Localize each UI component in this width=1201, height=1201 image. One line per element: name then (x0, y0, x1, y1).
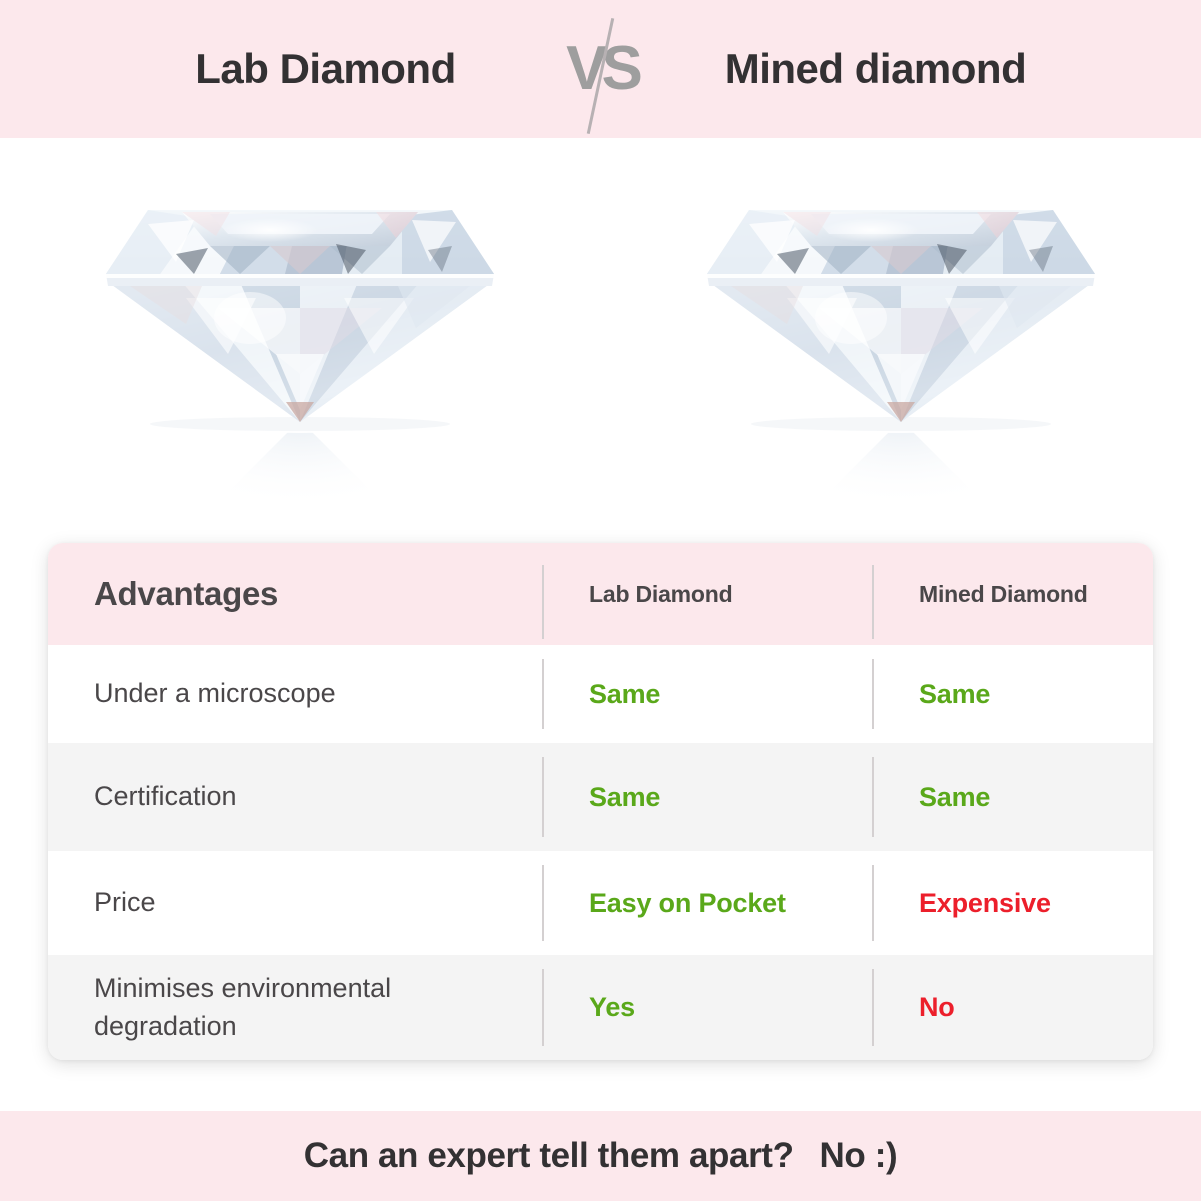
column-divider-1 (542, 757, 544, 837)
header-inner: Lab Diamond VS Mined diamond (0, 9, 1201, 129)
row-mined-cell: Expensive (873, 851, 1153, 955)
column-divider-1 (542, 659, 544, 729)
table-header-row: Advantages Lab Diamond Mined Diamond (48, 543, 1153, 645)
row-mined-cell: No (873, 955, 1153, 1060)
table-row: Certification Same Same (48, 743, 1153, 851)
column-divider-1 (542, 865, 544, 941)
column-divider-1 (542, 565, 544, 639)
column-divider-2 (872, 969, 874, 1046)
column-divider-1 (542, 969, 544, 1046)
vs-badge: VS (541, 9, 661, 129)
row-feature-label: Price (94, 884, 156, 921)
header-left-title: Lab Diamond (111, 48, 541, 90)
table-row: Price Easy on Pocket Expensive (48, 851, 1153, 955)
row-feature-label: Certification (94, 778, 237, 815)
column-header-mined-label: Mined Diamond (919, 581, 1088, 608)
header-right-title: Mined diamond (661, 48, 1091, 90)
table-row: Under a microscope Same Same (48, 645, 1153, 743)
diamond-icon (691, 158, 1111, 518)
column-divider-2 (872, 757, 874, 837)
footer-answer: No :) (820, 1136, 898, 1176)
row-mined-value: Same (919, 782, 990, 813)
diamond-icon (90, 158, 510, 518)
column-divider-2 (872, 865, 874, 941)
row-lab-value: Yes (589, 992, 635, 1023)
column-divider-2 (872, 659, 874, 729)
row-feature-cell: Price (48, 851, 543, 955)
comparison-table: Advantages Lab Diamond Mined Diamond Und… (48, 543, 1153, 1060)
row-mined-value: Expensive (919, 888, 1051, 919)
column-header-lab: Lab Diamond (543, 543, 873, 645)
row-lab-cell: Same (543, 743, 873, 851)
row-lab-value: Same (589, 679, 660, 710)
lab-diamond-image (90, 158, 510, 518)
row-feature-cell: Certification (48, 743, 543, 851)
row-mined-value: No (919, 992, 955, 1023)
row-lab-cell: Same (543, 645, 873, 743)
footer-question: Can an expert tell them apart? (304, 1136, 794, 1176)
row-feature-cell: Under a microscope (48, 645, 543, 743)
row-feature-cell: Minimises environmental degradation (48, 955, 543, 1060)
row-mined-cell: Same (873, 645, 1153, 743)
row-feature-label: Under a microscope (94, 675, 336, 712)
row-lab-cell: Easy on Pocket (543, 851, 873, 955)
row-lab-value: Same (589, 782, 660, 813)
row-mined-value: Same (919, 679, 990, 710)
row-lab-value: Easy on Pocket (589, 888, 786, 919)
comparison-card: Advantages Lab Diamond Mined Diamond Und… (48, 543, 1153, 1060)
column-header-advantages: Advantages (48, 543, 543, 645)
footer-band: Can an expert tell them apart? No :) (0, 1111, 1201, 1201)
row-lab-cell: Yes (543, 955, 873, 1060)
column-header-lab-label: Lab Diamond (589, 581, 732, 608)
diamond-showcase (0, 138, 1201, 538)
column-header-advantages-label: Advantages (94, 575, 278, 613)
header-band: Lab Diamond VS Mined diamond (0, 0, 1201, 138)
column-header-mined: Mined Diamond (873, 543, 1153, 645)
row-mined-cell: Same (873, 743, 1153, 851)
column-divider-2 (872, 565, 874, 639)
mined-diamond-image (691, 158, 1111, 518)
row-feature-label: Minimises environmental degradation (94, 970, 529, 1045)
table-row: Minimises environmental degradation Yes … (48, 955, 1153, 1060)
